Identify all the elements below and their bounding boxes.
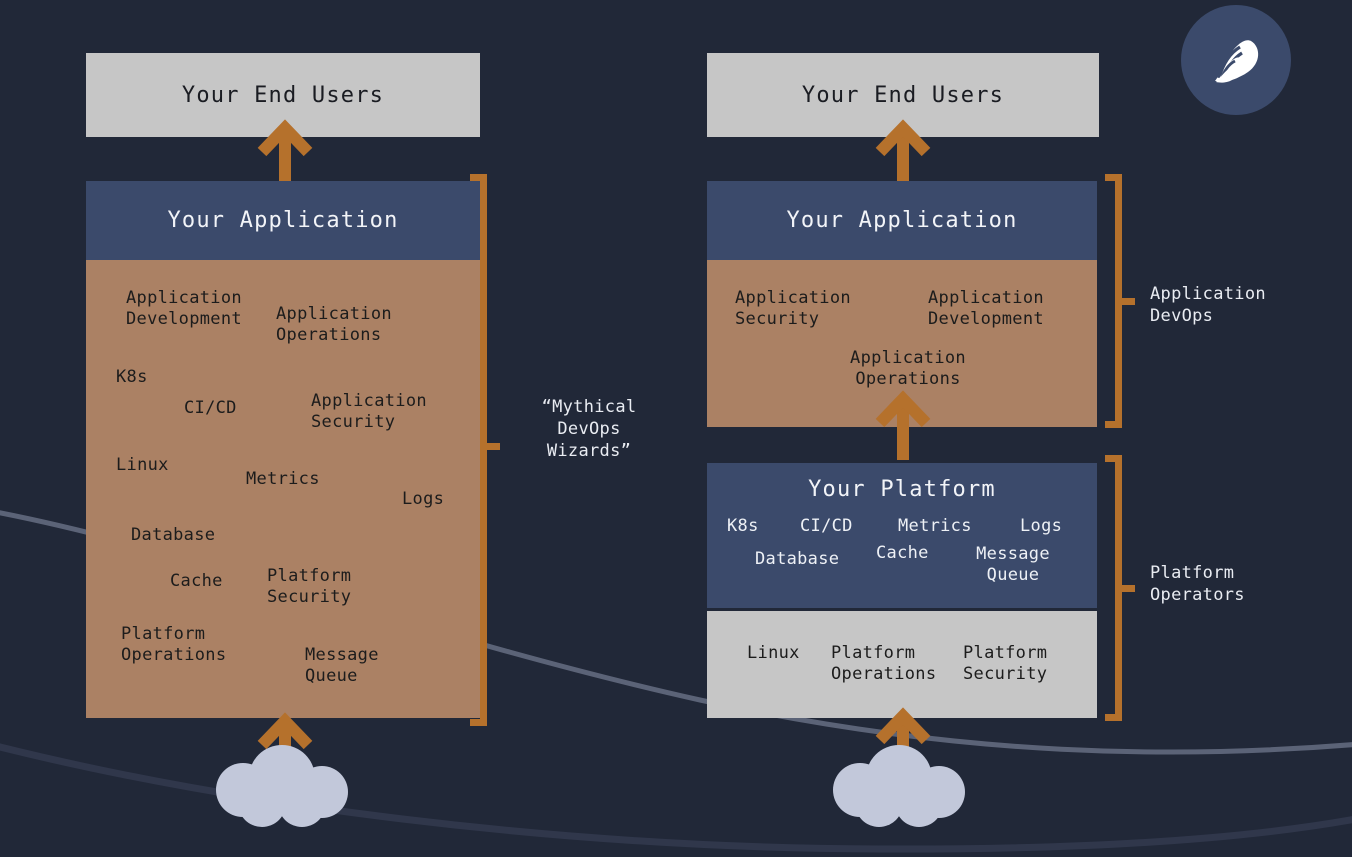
skill-label: Application Security: [311, 391, 427, 433]
skill-label: Application Operations: [276, 304, 392, 346]
skill-label: Application Development: [126, 288, 242, 330]
left-bracket-mythical-devops: [470, 174, 500, 726]
skill-label: Linux: [747, 643, 800, 664]
skill-label: Application Operations: [838, 348, 978, 390]
skill-label: Cache: [170, 571, 223, 592]
skill-label: Platform Operations: [121, 624, 226, 666]
cloud-left: [216, 745, 348, 827]
skill-label: Platform Security: [267, 566, 351, 608]
right-your-application-label: Your Application: [786, 208, 1017, 233]
skill-label: Linux: [116, 455, 169, 476]
skill-label: Platform Operations: [831, 643, 936, 685]
skill-label: Database: [131, 525, 215, 546]
skill-label: CI/CD: [800, 516, 853, 537]
right-your-application-box: Your Application: [707, 181, 1097, 260]
left-bracket-label: “Mythical DevOps Wizards”: [519, 396, 659, 462]
cloud-swoosh-icon: [1201, 25, 1271, 95]
left-your-application-label: Your Application: [167, 208, 398, 233]
skill-label: K8s: [727, 516, 759, 537]
brand-logo: [1181, 5, 1291, 115]
skill-label: Database: [755, 549, 839, 570]
right-your-platform-label: Your Platform: [808, 477, 996, 502]
right-end-users-box: Your End Users: [707, 53, 1099, 137]
right-bracket-application-devops: [1105, 174, 1135, 428]
skill-label: CI/CD: [184, 398, 237, 419]
left-end-users-label: Your End Users: [182, 83, 384, 108]
left-your-application-box: Your Application: [86, 181, 480, 260]
skill-label: Message Queue: [963, 544, 1063, 586]
skill-label: Metrics: [246, 469, 320, 490]
skill-label: K8s: [116, 367, 148, 388]
right-bracket-platform-label: Platform Operators: [1150, 562, 1340, 606]
skill-label: Logs: [1020, 516, 1062, 537]
skill-label: Message Queue: [305, 645, 379, 687]
diagram-canvas: Your End Users Your Application Applicat…: [0, 0, 1352, 857]
skill-label: Application Security: [735, 288, 851, 330]
cloud-right: [833, 745, 965, 827]
right-bracket-application-label: Application DevOps: [1150, 283, 1340, 327]
skill-label: Application Development: [928, 288, 1044, 330]
skill-label: Platform Security: [963, 643, 1047, 685]
right-bracket-platform-operators: [1105, 455, 1135, 721]
right-application-responsibilities-box: [707, 260, 1097, 427]
skill-label: Cache: [876, 543, 929, 564]
skill-label: Metrics: [898, 516, 972, 537]
skill-label: Logs: [402, 489, 444, 510]
right-end-users-label: Your End Users: [802, 83, 1004, 108]
left-end-users-box: Your End Users: [86, 53, 480, 137]
